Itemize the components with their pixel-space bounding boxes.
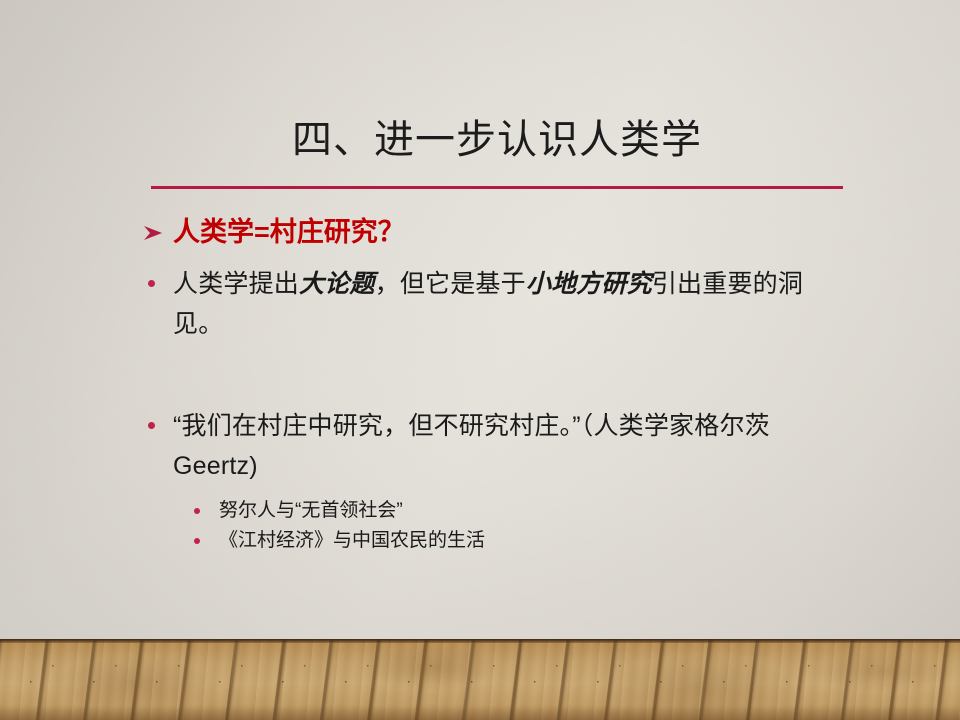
arrow-bullet-icon — [141, 218, 165, 242]
wooden-floor-image — [0, 639, 960, 720]
bullet-item-2-text: “我们在村庄中研究，但不研究村庄。”（人类学家格尔茨Geertz) — [173, 412, 770, 480]
sub-bullet-item-2-text: 《江村经济》与中国农民的生活 — [219, 530, 485, 551]
sub-bullet-item-2: 《江村经济》与中国农民的生活 — [140, 526, 852, 556]
body-spacer — [140, 344, 852, 406]
sub-bullet-item-1: 努尔人与“无首领社会” — [140, 496, 852, 526]
dot-bullet-icon — [194, 508, 200, 514]
bullet-item-1: 人类学提出大论题，但它是基于小地方研究引出重要的洞见。 — [140, 264, 852, 344]
bullet-heading: 人类学=村庄研究？ — [140, 214, 852, 250]
dot-bullet-icon — [148, 280, 155, 287]
dot-bullet-icon — [148, 422, 155, 429]
body-spacer — [140, 486, 852, 496]
bullet-item-2: “我们在村庄中研究，但不研究村庄。”（人类学家格尔茨Geertz) — [140, 406, 852, 486]
sub-bullet-item-1-text: 努尔人与“无首领社会” — [219, 500, 403, 521]
bullet-item-1-text: 人类学提出大论题，但它是基于小地方研究引出重要的洞见。 — [173, 270, 803, 338]
dot-bullet-icon — [194, 538, 200, 544]
emphasis-small-place-study: 小地方研究 — [526, 270, 652, 298]
emphasis-big-topic: 大论题 — [299, 270, 375, 298]
slide-canvas: 四、进一步认识人类学 人类学=村庄研究？ 人类学提出大论题，但它是基于小地方研究… — [0, 0, 960, 720]
page-title: 四、进一步认识人类学 — [151, 113, 843, 167]
title-underline-rule — [151, 186, 843, 189]
floor-bottom-shadow — [0, 706, 960, 720]
bullet-heading-label: 人类学=村庄研究？ — [173, 217, 405, 247]
floor-top-edge — [0, 639, 960, 643]
slide-body: 人类学=村庄研究？ 人类学提出大论题，但它是基于小地方研究引出重要的洞见。 “我… — [140, 214, 852, 556]
